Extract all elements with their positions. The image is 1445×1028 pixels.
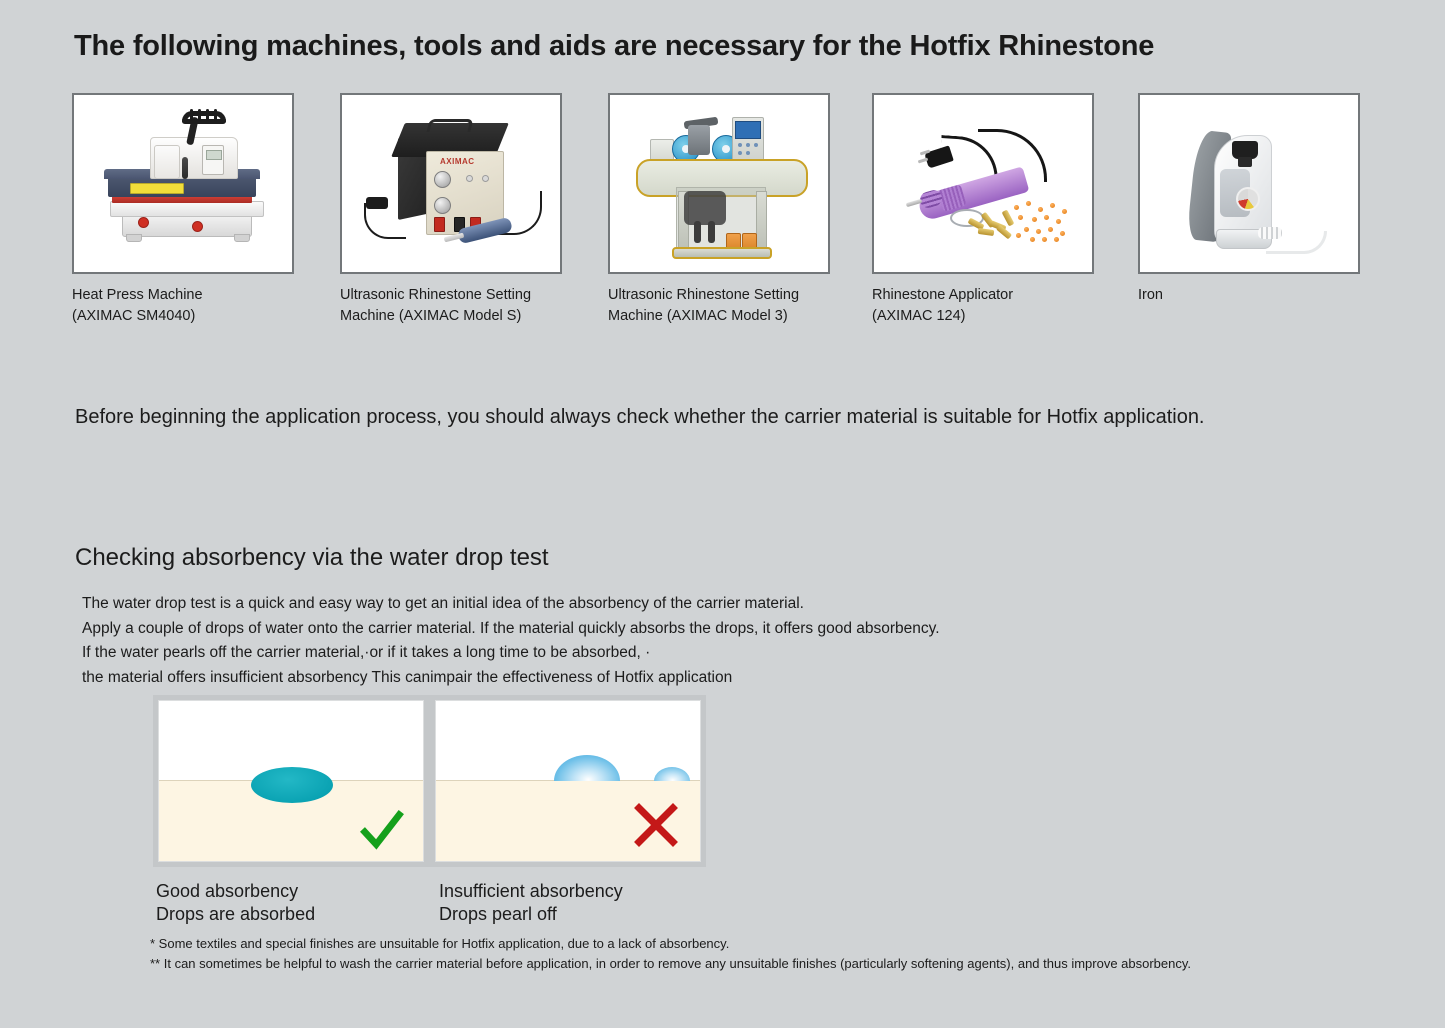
insufficient-absorbency-label: Insufficient absorbency Drops pearl off xyxy=(439,880,623,926)
good-absorbency-panel xyxy=(158,700,424,862)
product-image-frame xyxy=(608,93,830,274)
footnotes: * Some textiles and special finishes are… xyxy=(150,934,1191,974)
product-item-iron: Iron xyxy=(1138,93,1362,306)
product-item-heat-press: Heat Press Machine (AXIMAC SM4040) xyxy=(72,93,296,327)
product-gallery: Heat Press Machine (AXIMAC SM4040) AXIMA… xyxy=(72,93,1372,333)
good-absorbency-label: Good absorbency Drops are absorbed xyxy=(156,880,315,926)
product-caption: Ultrasonic Rhinestone Setting Machine (A… xyxy=(340,285,564,327)
absorbed-drop-shape xyxy=(251,767,333,803)
check-icon xyxy=(359,807,405,853)
product-image-frame xyxy=(872,93,1094,274)
product-image-frame xyxy=(1138,93,1360,274)
iron-photo xyxy=(1140,95,1358,272)
product-caption: Rhinestone Applicator (AXIMAC 124) xyxy=(872,285,1096,327)
cross-icon xyxy=(634,803,678,847)
product-image-frame xyxy=(72,93,294,274)
product-image-frame: AXIMAC xyxy=(340,93,562,274)
absorbency-section-heading: Checking absorbency via the water drop t… xyxy=(75,544,549,572)
product-item-ultrasonic-model-3: Ultrasonic Rhinestone Setting Machine (A… xyxy=(608,93,832,327)
ultrasonic-setting-machine-model-3-photo xyxy=(610,95,828,272)
absorbency-body-text: The water drop test is a quick and easy … xyxy=(82,592,940,690)
product-caption: Heat Press Machine (AXIMAC SM4040) xyxy=(72,285,296,327)
product-caption: Ultrasonic Rhinestone Setting Machine (A… xyxy=(608,285,832,327)
product-item-ultrasonic-model-s: AXIMAC Ultrasonic Rhinestone Setting Mac… xyxy=(340,93,564,327)
heat-press-machine-photo xyxy=(74,95,292,272)
page-title: The following machines, tools and aids a… xyxy=(74,30,1154,63)
product-caption: Iron xyxy=(1138,285,1362,306)
document-page: The following machines, tools and aids a… xyxy=(0,0,1445,1028)
product-item-rhinestone-applicator: Rhinestone Applicator (AXIMAC 124) xyxy=(872,93,1096,327)
rhinestone-applicator-photo xyxy=(874,95,1092,272)
ultrasonic-setting-machine-model-s-photo: AXIMAC xyxy=(342,95,560,272)
water-drop-test-diagram xyxy=(153,695,706,867)
insufficient-absorbency-panel xyxy=(435,700,701,862)
intro-paragraph: Before beginning the application process… xyxy=(75,406,1205,429)
